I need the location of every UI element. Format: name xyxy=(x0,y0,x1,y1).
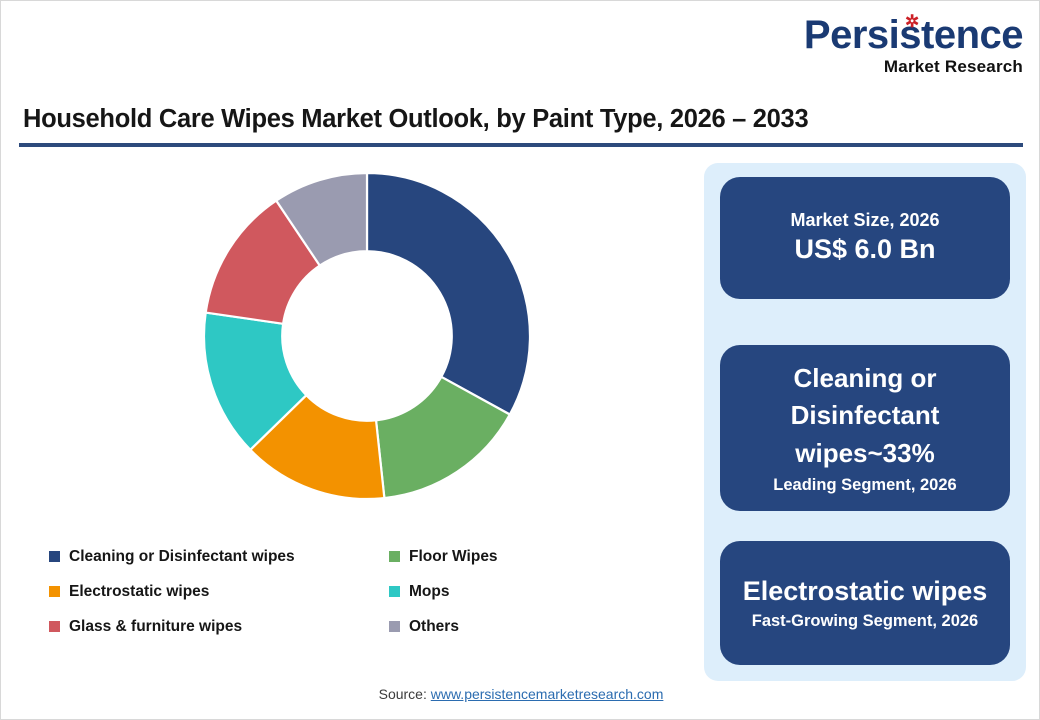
legend-swatch-icon xyxy=(389,586,400,597)
legend-label: Others xyxy=(409,618,459,636)
source-label: Source: xyxy=(379,686,431,702)
stat-card-leading-segment[interactable]: Cleaning or Disinfectant wipes~33% Leadi… xyxy=(720,345,1010,511)
stats-panel: Market Size, 2026 US$ 6.0 Bn Cleaning or… xyxy=(704,163,1026,681)
legend-swatch-icon xyxy=(49,551,60,562)
legend-swatch-icon xyxy=(49,621,60,632)
legend-item: Cleaning or Disinfectant wipes xyxy=(49,548,389,566)
donut-slice xyxy=(367,173,530,415)
chart-legend: Cleaning or Disinfectant wipesFloor Wipe… xyxy=(49,539,659,644)
legend-label: Mops xyxy=(409,583,449,601)
legend-label: Electrostatic wipes xyxy=(69,583,209,601)
logo-brand-text: Persistence ✲ xyxy=(795,15,1023,55)
stat-card-market-size[interactable]: Market Size, 2026 US$ 6.0 Bn xyxy=(720,177,1010,299)
legend-item: Floor Wipes xyxy=(389,548,659,566)
legend-item: Glass & furniture wipes xyxy=(49,618,389,636)
leading-segment-label: Leading Segment, 2026 xyxy=(773,475,956,496)
legend-label: Floor Wipes xyxy=(409,548,498,566)
donut-chart xyxy=(151,161,591,521)
donut-chart-svg xyxy=(151,161,591,521)
legend-swatch-icon xyxy=(389,621,400,632)
fast-growing-label: Fast-Growing Segment, 2026 xyxy=(752,611,978,632)
infographic-root: Persistence ✲ Market Research Household … xyxy=(0,0,1040,720)
legend-item: Electrostatic wipes xyxy=(49,583,389,601)
legend-item: Mops xyxy=(389,583,659,601)
legend-label: Cleaning or Disinfectant wipes xyxy=(69,548,295,566)
logo-tagline: Market Research xyxy=(795,58,1023,75)
legend-swatch-icon xyxy=(389,551,400,562)
title-divider xyxy=(19,143,1023,147)
legend-label: Glass & furniture wipes xyxy=(69,618,242,636)
page-title: Household Care Wipes Market Outlook, by … xyxy=(23,105,808,134)
source-link[interactable]: www.persistencemarketresearch.com xyxy=(431,686,664,702)
legend-item: Others xyxy=(389,618,659,636)
logo-star-icon: ✲ xyxy=(905,13,919,30)
market-size-label: Market Size, 2026 xyxy=(790,209,939,232)
legend-swatch-icon xyxy=(49,586,60,597)
company-logo: Persistence ✲ Market Research xyxy=(795,15,1023,75)
market-size-value: US$ 6.0 Bn xyxy=(794,232,935,267)
fast-growing-value: Electrostatic wipes xyxy=(743,574,988,609)
leading-segment-value: Cleaning or Disinfectant wipes~33% xyxy=(758,360,973,473)
stat-card-fast-growing-segment[interactable]: Electrostatic wipes Fast-Growing Segment… xyxy=(720,541,1010,665)
source-line: Source: www.persistencemarketresearch.co… xyxy=(1,686,1040,702)
